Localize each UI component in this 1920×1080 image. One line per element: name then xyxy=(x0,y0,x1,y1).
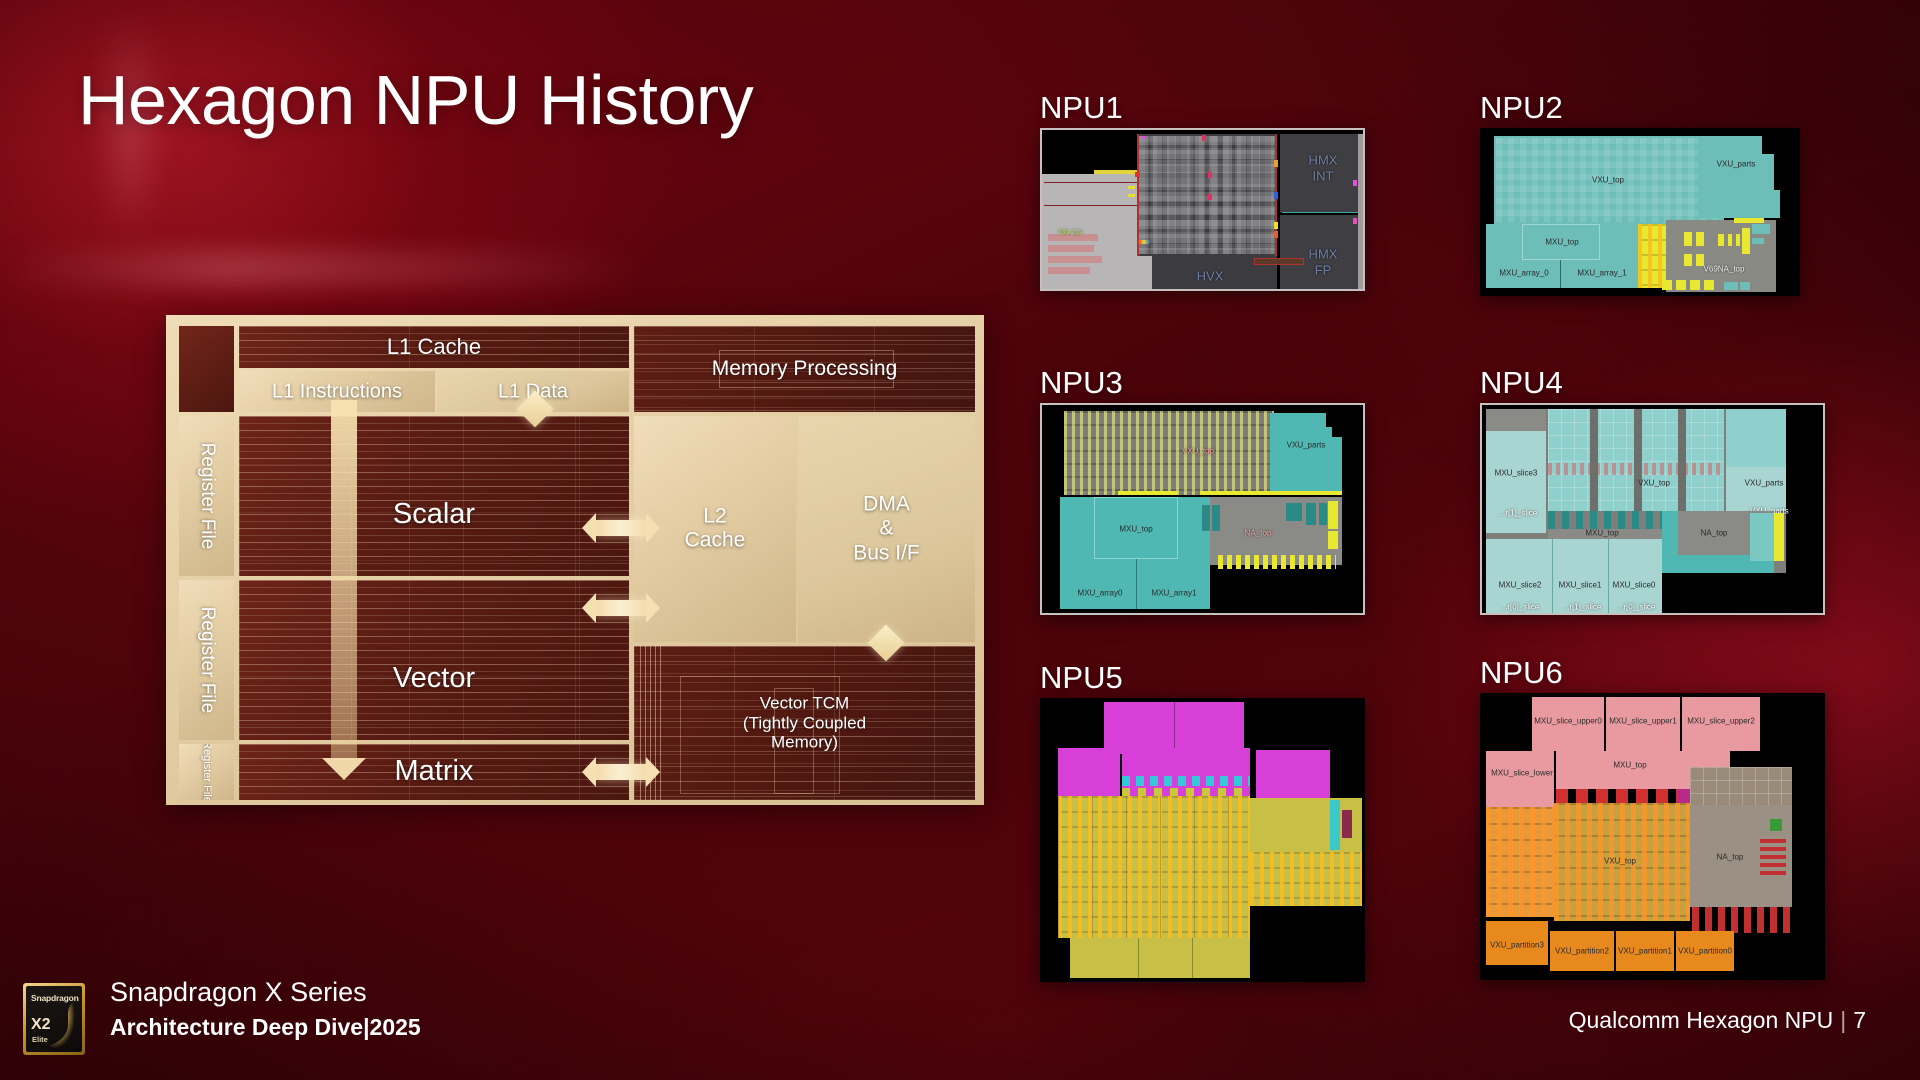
arch-arrow-scalar-l2 xyxy=(595,520,647,536)
npu3-title: NPU3 xyxy=(1040,365,1123,401)
npu1-title: NPU1 xyxy=(1040,90,1123,126)
footer-separator-right: | xyxy=(1833,1007,1853,1033)
logo-model: X2 xyxy=(31,1016,51,1034)
arch-arrow-instruction-flow xyxy=(331,400,357,760)
footer-right: Qualcomm Hexagon NPU|7 xyxy=(1569,1007,1866,1034)
npu1-die-image: 739 232 HMX INT HMX FP HVX xyxy=(1040,128,1365,291)
arch-arrow-matrix-tcm xyxy=(595,764,647,780)
arch-block-scalar: Scalar xyxy=(239,416,629,576)
arch-block-l1-cache: L1 Cache xyxy=(239,326,629,368)
npu6-die-image: MXU_slice_upper0 MXU_slice_upper1 MXU_sl… xyxy=(1480,693,1825,980)
arch-label-register-file-3: Register File xyxy=(200,744,212,800)
npu4-title: NPU4 xyxy=(1480,365,1563,401)
npu5-die-image xyxy=(1040,698,1365,982)
npu4-die-image: MXU_slice3 ...r[1]_slice VXU_top VXU_par… xyxy=(1480,403,1825,615)
arch-block-dma-bus-if: DMA & Bus I/F xyxy=(798,416,975,642)
npu-panel-npu4: NPU4 MXU_slice3 ...r[1]_slice VXU_top VX… xyxy=(1480,365,1825,615)
arch-corner-block xyxy=(179,326,234,412)
arch-label-dma-line2: & xyxy=(798,517,975,541)
npu-panel-npu6: NPU6 MXU_slice_upper0 MXU_slice_upper1 M… xyxy=(1480,655,1825,980)
footer-subtitle: Architecture Deep Dive|2025 xyxy=(110,1014,421,1041)
arch-block-vector-tcm: Vector TCM (Tightly Coupled Memory) xyxy=(634,646,975,800)
footer-year: 2025 xyxy=(370,1014,421,1040)
npu6-title: NPU6 xyxy=(1480,655,1563,691)
footer-series-name: Snapdragon X Series xyxy=(110,977,367,1008)
arch-block-vector: Vector xyxy=(239,580,629,740)
arch-block-register-file-3: Register File xyxy=(179,744,234,800)
footer-right-label: Qualcomm Hexagon NPU xyxy=(1569,1007,1834,1033)
arch-block-memory-processing: Memory Processing xyxy=(634,326,975,412)
arch-label-dma-line1: DMA xyxy=(798,492,975,516)
arch-label-dma-line3: Bus I/F xyxy=(798,541,975,565)
npu-panel-npu2: NPU2 VXU_top VXU_parts MXU_top MXU_array… xyxy=(1480,90,1800,300)
snapdragon-logo: Snapdragon X2 Elite xyxy=(23,983,85,1055)
footer-deck-name: Architecture Deep Dive xyxy=(110,1014,363,1040)
npu-panel-npu3: NPU3 VXU_top VXU_parts MXU_top MXU_array… xyxy=(1040,365,1365,615)
logo-brand: Snapdragon xyxy=(31,993,79,1003)
npu-panel-npu5: NPU5 xyxy=(1040,660,1365,980)
npu3-die-image: VXU_top VXU_parts MXU_top MXU_array0 MXU… xyxy=(1040,403,1365,615)
arch-block-register-file-1: Register File xyxy=(179,416,234,576)
npu2-die-image: VXU_top VXU_parts MXU_top MXU_array_0 MX… xyxy=(1480,128,1800,296)
npu5-title: NPU5 xyxy=(1040,660,1123,696)
arch-label-register-file-1: Register File xyxy=(196,443,218,550)
page-number: 7 xyxy=(1853,1007,1866,1033)
arch-block-matrix: Matrix xyxy=(239,744,629,800)
arch-arrow-vector-l2 xyxy=(595,600,647,616)
arch-block-register-file-2: Register File xyxy=(179,580,234,740)
hexagon-architecture-diagram: L1 Cache L1 Instructions L1 Data Memory … xyxy=(166,315,984,805)
page-title: Hexagon NPU History xyxy=(78,60,753,140)
npu2-title: NPU2 xyxy=(1480,90,1563,126)
arch-label-dma: DMA & Bus I/F xyxy=(798,492,975,565)
arch-label-register-file-2: Register File xyxy=(196,607,218,714)
npu-panel-npu1: NPU1 739 232 HMX INT HMX FP HVX xyxy=(1040,90,1365,300)
logo-tier: Elite xyxy=(32,1035,48,1044)
